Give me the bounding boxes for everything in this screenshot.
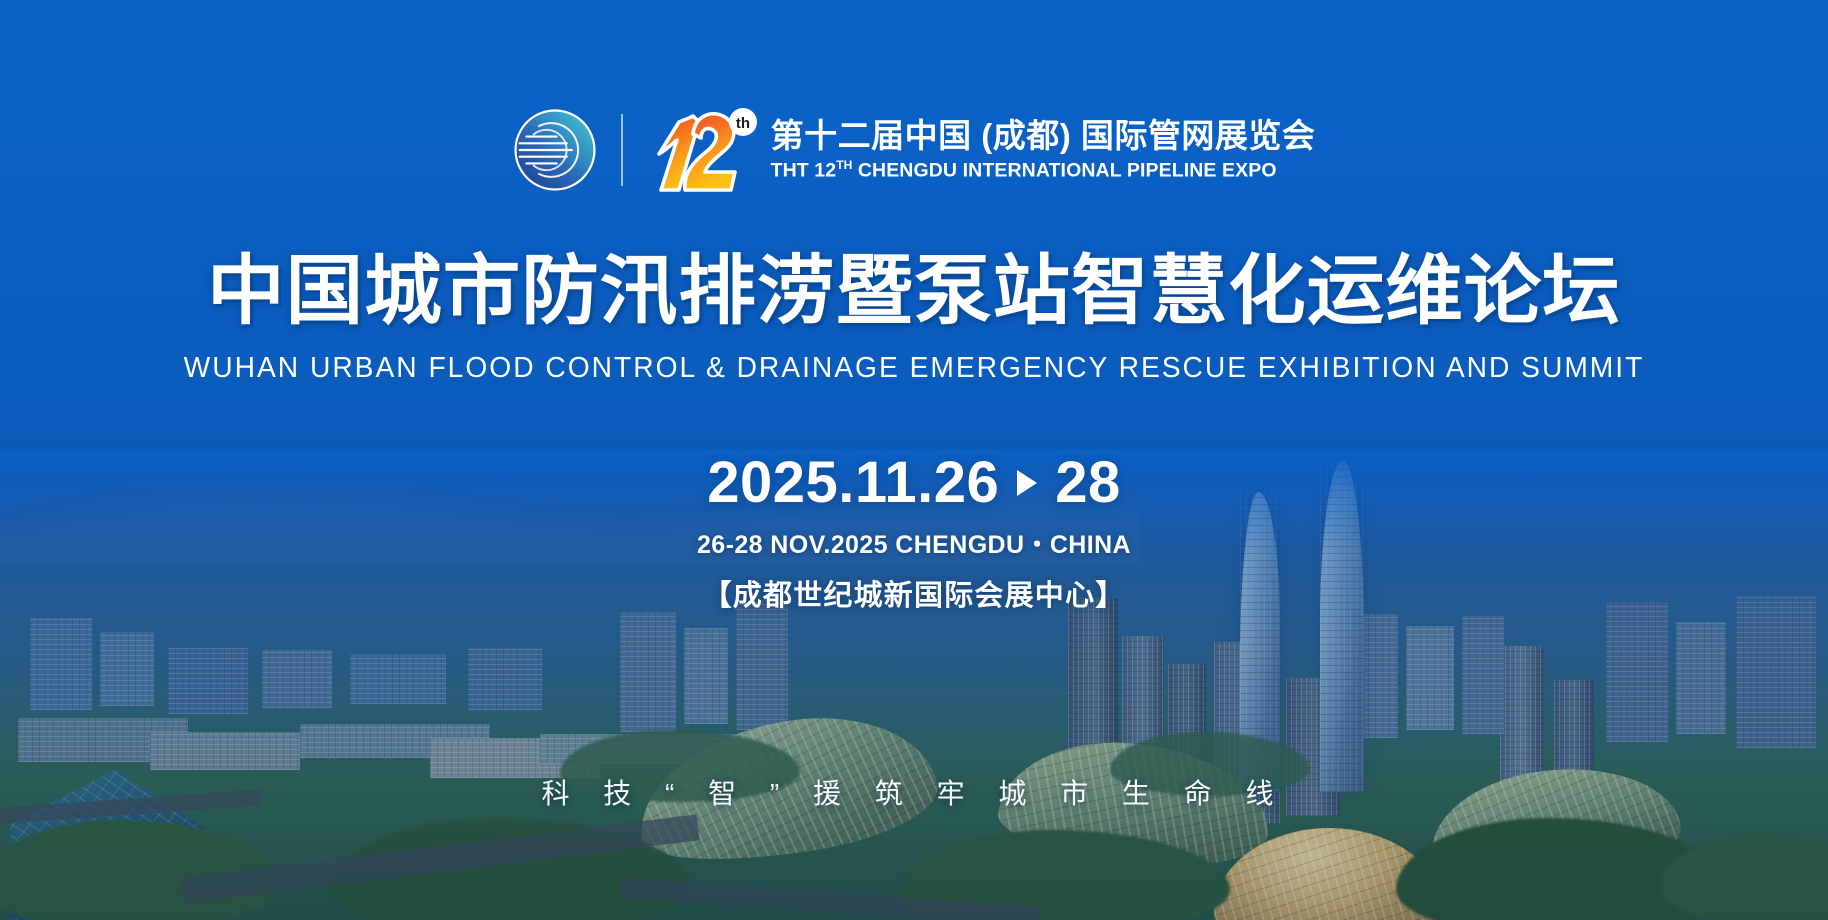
date-start: 2025.11.26	[707, 452, 999, 515]
expo-name-en: THT 12TH CHENGDU INTERNATIONAL PIPELINE …	[771, 158, 1316, 183]
event-date-block: 2025.11.26 28 26-28 NOV.2025 CHENGDU・CHI…	[0, 452, 1828, 614]
pipeline-network-circle-emblem-icon	[513, 108, 597, 192]
forum-title-en: WUHAN URBAN FLOOD CONTROL & DRAINAGE EME…	[9, 352, 1819, 385]
event-venue: 【成都世纪城新国际会展中心】	[0, 572, 1828, 614]
expo-logo-row: th 第十二届中国 (成都) 国际管网展览会 THT 12TH CHENGDU …	[0, 104, 1828, 196]
event-banner: th 第十二届中国 (成都) 国际管网展览会 THT 12TH CHENGDU …	[0, 0, 1828, 920]
date-end: 28	[1055, 452, 1121, 515]
event-date-main: 2025.11.26 28	[0, 452, 1828, 515]
expo-name-en-suffix: CHENGDU INTERNATIONAL PIPELINE EXPO	[852, 159, 1276, 181]
event-slogan: 科 技 “ 智 ” 援 筑 牢 城 市 生 命 线	[0, 772, 1828, 812]
edition-12th-numeral-logo: th	[649, 104, 761, 196]
event-date-sub-en: 26-28 NOV.2025 CHENGDU・CHINA	[0, 525, 1828, 561]
forum-title-cn: 中国城市防汛排涝暨泵站智慧化运维论坛	[0, 252, 1828, 333]
expo-name-block: 第十二届中国 (成都) 国际管网展览会 THT 12TH CHENGDU INT…	[771, 118, 1316, 182]
banner-content: th 第十二届中国 (成都) 国际管网展览会 THT 12TH CHENGDU …	[0, 0, 1828, 920]
logo-divider	[621, 114, 623, 186]
expo-name-en-sup: TH	[836, 158, 852, 172]
right-triangle-icon	[1017, 470, 1037, 496]
expo-name-cn: 第十二届中国 (成都) 国际管网展览会	[771, 118, 1316, 155]
expo-name-en-prefix: THT 12	[771, 159, 837, 181]
svg-text:th: th	[735, 115, 749, 132]
